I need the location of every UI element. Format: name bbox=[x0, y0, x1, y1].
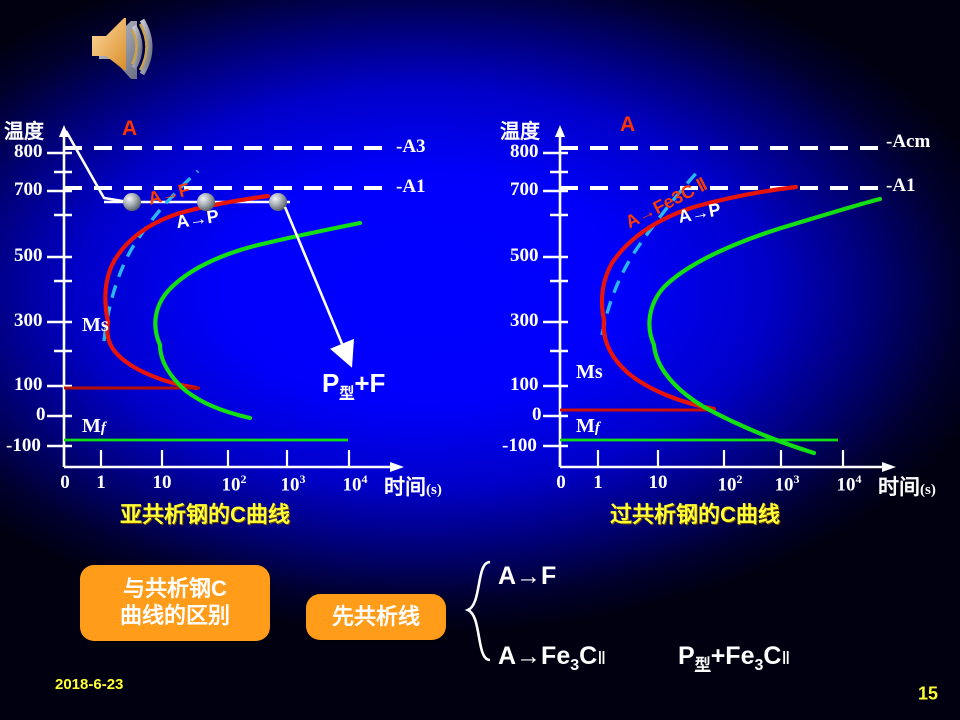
box-proeutectoid-line[interactable]: 先共析线 bbox=[306, 594, 446, 640]
x-tick-100: 102 bbox=[708, 472, 752, 496]
x-tick-1: 1 bbox=[589, 472, 607, 494]
cooling-path bbox=[66, 131, 128, 202]
y-tick-800: 800 bbox=[14, 141, 43, 163]
x-axis-title: 时间(s) bbox=[878, 471, 936, 501]
axis-lines bbox=[59, 125, 404, 472]
slide-page-number: 15 bbox=[918, 684, 938, 705]
y-tick-0: 0 bbox=[532, 404, 542, 426]
y-tick-500: 500 bbox=[510, 245, 539, 267]
x-tick-10000: 104 bbox=[827, 472, 871, 496]
x-tick-0: 0 bbox=[56, 472, 74, 494]
y-tick-700: 700 bbox=[510, 179, 539, 201]
dashed-transformation-lines bbox=[64, 148, 392, 188]
x-tick-1000: 103 bbox=[765, 472, 809, 496]
chart-hypoeutectoid: 800 700 500 300 100 0 -100 温度 0 1 10 102… bbox=[0, 105, 470, 525]
x-tick-10: 10 bbox=[643, 472, 673, 494]
y-tick-700: 700 bbox=[14, 179, 43, 201]
dashed-transformation-lines bbox=[560, 148, 884, 188]
label-austenite: A bbox=[620, 113, 635, 137]
label-a1: -A1 bbox=[886, 175, 916, 197]
y-tick-100: 100 bbox=[510, 374, 539, 396]
x-tick-0: 0 bbox=[552, 472, 570, 494]
y-tick-0: 0 bbox=[36, 404, 46, 426]
y-tick-500: 500 bbox=[14, 245, 43, 267]
label-ms: Ms bbox=[576, 361, 603, 384]
y-tick-100: 100 bbox=[14, 374, 43, 396]
y-ticks bbox=[47, 153, 72, 446]
formula-a-to-f: A→F bbox=[498, 562, 556, 591]
y-tick-300: 300 bbox=[14, 310, 43, 332]
y-tick-neg100: -100 bbox=[6, 435, 41, 457]
x-tick-1: 1 bbox=[92, 472, 110, 494]
box-proeutectoid-label: 先共析线 bbox=[332, 604, 420, 631]
box-difference[interactable]: 与共析钢C 曲线的区别 bbox=[80, 565, 270, 641]
brace-icon bbox=[460, 558, 500, 668]
caption-hypereutectoid: 过共析钢的C曲线 bbox=[610, 497, 780, 529]
x-tick-100: 102 bbox=[212, 472, 256, 496]
label-austenite: A bbox=[122, 117, 137, 141]
x-ticks bbox=[64, 450, 349, 467]
formula-a-to-fe3c2: A→Fe3CⅡ bbox=[498, 642, 606, 675]
curve-transformation-start-lower bbox=[107, 322, 196, 388]
label-acm: -Acm bbox=[886, 131, 930, 153]
label-mf: Mf bbox=[82, 415, 106, 438]
chart-hypereutectoid: 800 700 500 300 100 0 -100 温度 0 1 10 102… bbox=[488, 105, 958, 525]
speaker-sound-icon[interactable] bbox=[78, 14, 164, 80]
y-axis-title: 温度 bbox=[4, 115, 44, 144]
caption-hypoeutectoid: 亚共析钢的C曲线 bbox=[120, 497, 290, 529]
box-difference-line2: 曲线的区别 bbox=[120, 603, 230, 630]
y-tick-800: 800 bbox=[510, 141, 539, 163]
x-tick-10: 10 bbox=[147, 472, 177, 494]
curve-transformation-finish-lower bbox=[160, 345, 250, 418]
slide-canvas: 800 700 500 300 100 0 -100 温度 0 1 10 102… bbox=[0, 0, 960, 720]
y-tick-300: 300 bbox=[510, 310, 539, 332]
x-axis-title: 时间(s) bbox=[384, 471, 442, 501]
label-a3: -A3 bbox=[396, 136, 426, 158]
x-tick-10000: 104 bbox=[333, 472, 377, 496]
slide-date: 2018-6-23 bbox=[55, 676, 123, 693]
y-tick-neg100: -100 bbox=[502, 435, 537, 457]
label-mf: Mf bbox=[576, 415, 600, 438]
box-difference-line1: 与共析钢C bbox=[123, 576, 227, 603]
formula-product-p-fe3c2: P型+Fe3CⅡ bbox=[678, 642, 790, 675]
x-tick-1000: 103 bbox=[271, 472, 315, 496]
x-ticks bbox=[560, 450, 843, 467]
curve-transformation-finish bbox=[155, 223, 360, 345]
label-a1: -A1 bbox=[396, 176, 426, 198]
y-ticks bbox=[543, 153, 568, 446]
hold-marker-1 bbox=[123, 193, 141, 211]
label-product-p-f: P型+F bbox=[322, 368, 385, 403]
label-ms: Ms bbox=[82, 314, 109, 337]
y-axis-title: 温度 bbox=[500, 115, 540, 144]
